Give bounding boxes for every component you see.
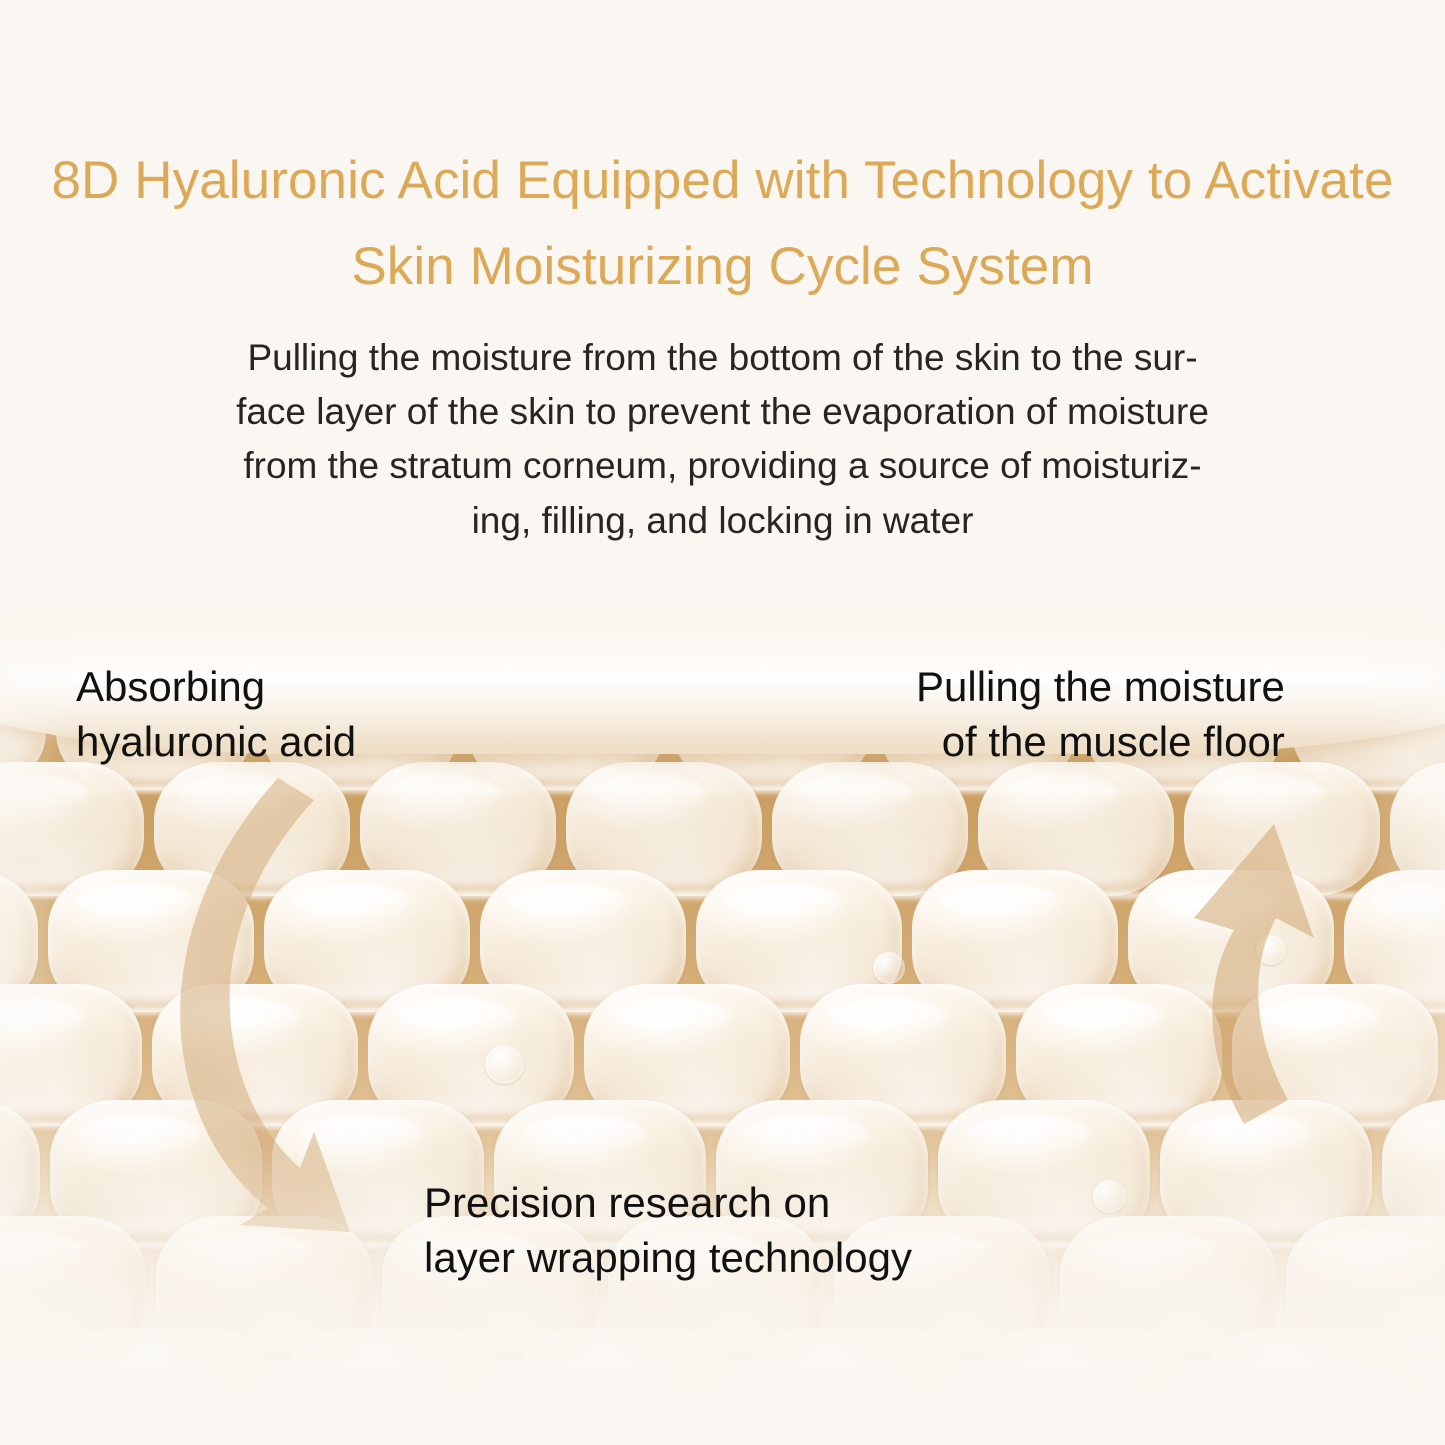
page-title: 8D Hyaluronic Acid Equipped with Technol… xyxy=(0,138,1445,310)
callout-absorb-line-1: Absorbing xyxy=(76,660,356,715)
capsule-air-bubble xyxy=(485,1045,524,1084)
callout-absorb-line-2: hyaluronic acid xyxy=(76,715,356,770)
page-subcopy-line-1: Pulling the moisture from the bottom of … xyxy=(140,331,1305,385)
page-subcopy-line-2: face layer of the skin to prevent the ev… xyxy=(140,385,1305,439)
capsule-air-bubble xyxy=(1256,935,1286,965)
page-subcopy-line-3: from the stratum corneum, providing a so… xyxy=(140,439,1305,493)
callout-pulling-moisture-muscle-floor: Pulling the moisture of the muscle floor xyxy=(916,660,1285,769)
page-subcopy-line-4: ing, filling, and locking in water xyxy=(140,494,1305,548)
callout-absorbing-hyaluronic-acid: Absorbing hyaluronic acid xyxy=(76,660,356,769)
capsule-row xyxy=(0,1328,1445,1445)
hyaluronic-capsule xyxy=(0,1328,44,1445)
callout-pull-line-2: of the muscle floor xyxy=(916,715,1285,770)
hyaluronic-capsule xyxy=(974,1328,1194,1445)
callout-precision-research-layer-wrapping: Precision research on layer wrapping tec… xyxy=(424,1176,912,1285)
callout-pull-line-1: Pulling the moisture xyxy=(916,660,1285,715)
capsule-air-bubble xyxy=(873,952,905,984)
page-title-line-1: 8D Hyaluronic Acid Equipped with Technol… xyxy=(51,151,1133,210)
hyaluronic-capsule xyxy=(284,1328,504,1445)
capsule-air-bubble xyxy=(1093,1180,1126,1213)
hyaluronic-capsule xyxy=(1434,1328,1445,1445)
product-infographic-page: 8D Hyaluronic Acid Equipped with Technol… xyxy=(0,0,1445,1445)
hyaluronic-capsule xyxy=(514,1328,734,1445)
page-subcopy: Pulling the moisture from the bottom of … xyxy=(140,331,1305,549)
header-text-block: 8D Hyaluronic Acid Equipped with Technol… xyxy=(0,0,1445,548)
hyaluronic-capsule xyxy=(744,1328,964,1445)
hyaluronic-capsule xyxy=(1204,1328,1424,1445)
hyaluronic-capsule xyxy=(54,1328,274,1445)
callout-precision-line-2: layer wrapping technology xyxy=(424,1231,912,1286)
callout-precision-line-1: Precision research on xyxy=(424,1176,912,1231)
